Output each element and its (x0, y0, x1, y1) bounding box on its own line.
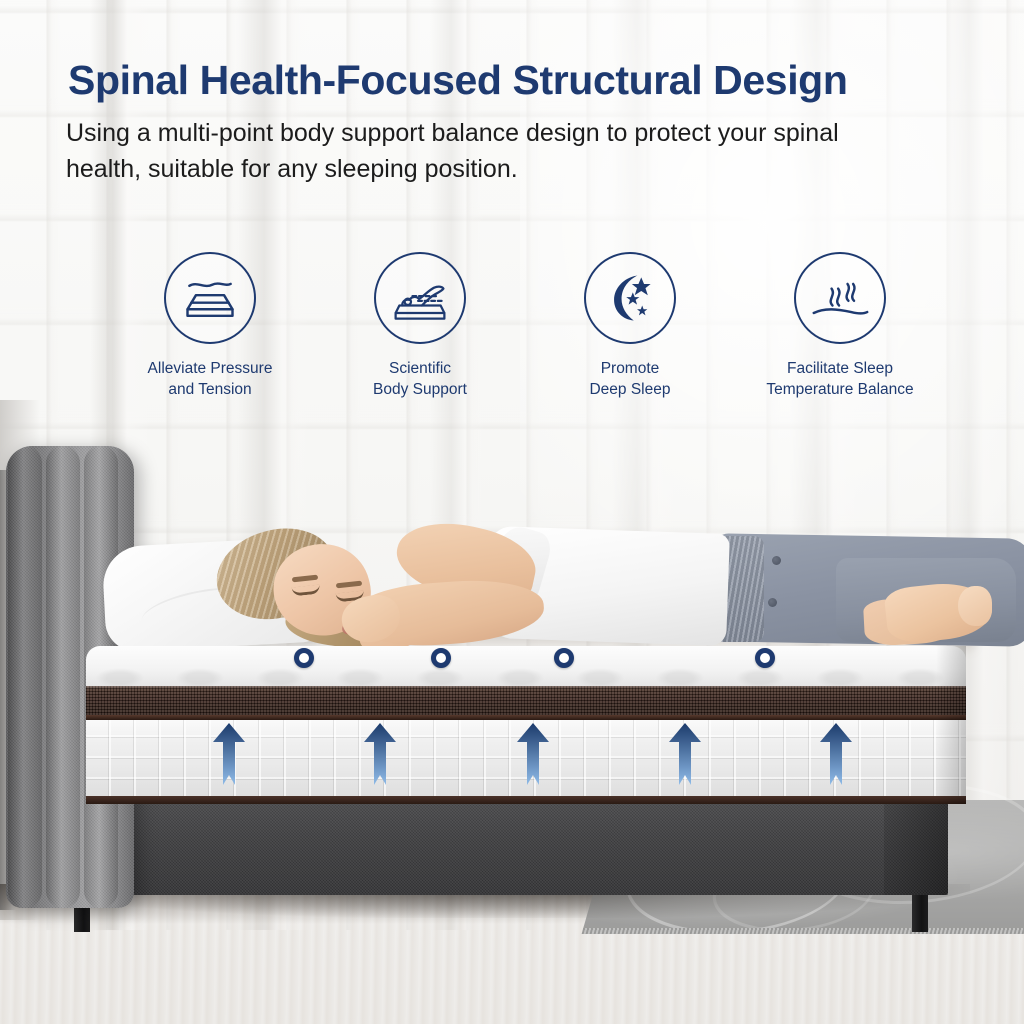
page-subtitle: Using a multi-point body support balance… (66, 116, 916, 187)
headboard-channel (46, 446, 80, 908)
feature-label-line1: Scientific (373, 359, 467, 380)
feature-label-line1: Alleviate Pressure (148, 359, 273, 380)
toes (958, 586, 992, 626)
support-point-shoulder (431, 648, 451, 668)
mattress-ventilation-band (86, 686, 966, 716)
body-support-icon (374, 252, 466, 344)
page-title: Spinal Health-Focused Structural Design (68, 58, 968, 103)
mattress-pressure-icon (164, 252, 256, 344)
fabric-texture (58, 800, 948, 895)
feature-promote-deep-sleep: Promote Deep Sleep (530, 252, 730, 417)
support-arrow-5 (819, 723, 853, 785)
pajama-button (772, 556, 781, 565)
pajama-button (768, 598, 777, 607)
feature-label-line2: Deep Sleep (589, 380, 670, 401)
support-point-head (294, 648, 314, 668)
mattress-pillow-top (86, 646, 966, 688)
headboard-channel (8, 446, 42, 908)
feature-label: Facilitate Sleep Temperature Balance (766, 359, 913, 401)
feature-label: Scientific Body Support (373, 359, 467, 401)
support-point-hip (755, 648, 775, 668)
quilting-bubbles (86, 662, 966, 688)
band-highlight (86, 686, 966, 689)
feature-list: Alleviate Pressure and Tension Scientifi… (110, 252, 940, 417)
support-arrow-3 (516, 723, 550, 785)
feature-scientific-body-support: Scientific Body Support (320, 252, 520, 417)
bed-base (58, 800, 948, 895)
mattress-bottom-trim (86, 796, 966, 804)
product-lifestyle-image: Spinal Health-Focused Structural Design … (0, 0, 1024, 1024)
feature-label-line2: and Tension (148, 380, 273, 401)
feature-label-line1: Promote (589, 359, 670, 380)
feature-label: Promote Deep Sleep (589, 359, 670, 401)
feature-sleep-temperature-balance: Facilitate Sleep Temperature Balance (740, 252, 940, 417)
bed-base-side-face (884, 800, 948, 895)
support-arrow-4 (668, 723, 702, 785)
heat-waves-icon (794, 252, 886, 344)
mattress-end-shading (936, 646, 966, 804)
support-point-waist (554, 648, 574, 668)
support-arrow-2 (363, 723, 397, 785)
moon-stars-icon (584, 252, 676, 344)
sleeping-woman (96, 500, 936, 660)
feature-label-line2: Temperature Balance (766, 380, 913, 401)
feature-alleviate-pressure: Alleviate Pressure and Tension (110, 252, 310, 417)
feature-label: Alleviate Pressure and Tension (148, 359, 273, 401)
feature-label-line2: Body Support (373, 380, 467, 401)
feature-label-line1: Facilitate Sleep (766, 359, 913, 380)
rug-fringe (582, 928, 1024, 934)
bed-leg (912, 890, 928, 932)
support-arrow-1 (212, 723, 246, 785)
